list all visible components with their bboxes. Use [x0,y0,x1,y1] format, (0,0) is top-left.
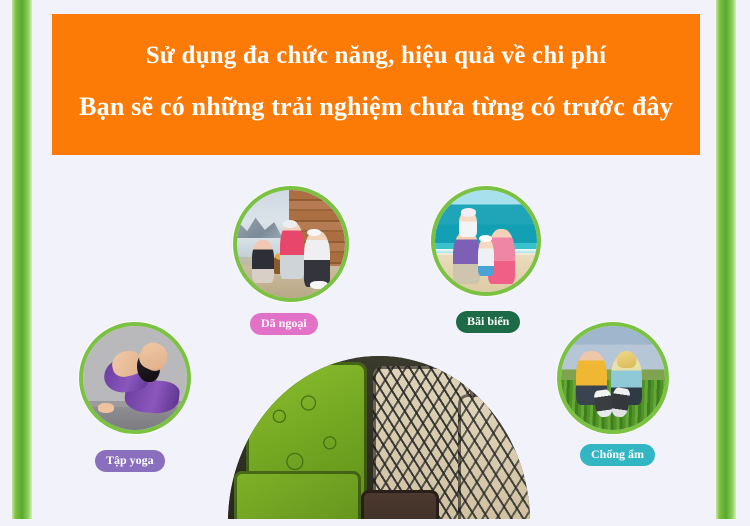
damp-photo [561,326,665,430]
plaid-mat-2 [458,394,530,519]
feature-label-damp: Chống ẩm [580,444,655,466]
promo-page: Sử dụng đa chức năng, hiệu quả về chi ph… [0,0,750,519]
right-green-rail [716,0,736,519]
feature-label-picnic: Dã ngoại [250,313,318,335]
product-photo [228,356,530,519]
yoga-photo [83,326,187,430]
feature-label-yoga: Tập yoga [95,450,165,472]
beach-photo [435,190,537,292]
feature-image-beach [431,186,541,296]
headline-banner: Sử dụng đa chức năng, hiệu quả về chi ph… [52,14,700,155]
picnic-photo [237,190,345,298]
dark-mat [361,490,440,519]
feature-image-picnic [233,186,349,302]
feature-label-beach: Bãi biển [456,311,520,333]
feature-image-yoga [79,322,191,434]
feature-image-damp [557,322,669,434]
headline-line-1: Sử dụng đa chức năng, hiệu quả về chi ph… [52,42,700,70]
left-green-rail [12,0,32,519]
green-mat-stack [234,471,361,519]
headline-line-2: Bạn sẽ có những trải nghiệm chưa từng có… [52,92,700,122]
